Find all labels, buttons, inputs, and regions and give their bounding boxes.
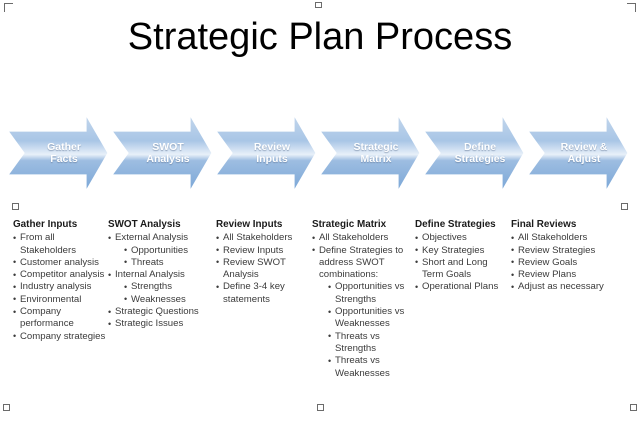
list-item-text: From all Stakeholders xyxy=(20,232,76,255)
selection-handle-bottom-right[interactable] xyxy=(630,404,637,411)
list-item: External AnalysisOpportunitiesThreats xyxy=(108,232,212,269)
detail-column-3: Review InputsAll StakeholdersReview Inpu… xyxy=(216,219,310,306)
list-item-text: Customer analysis xyxy=(20,257,99,268)
detail-column-heading: SWOT Analysis xyxy=(108,219,212,231)
selection-handle-top-center[interactable] xyxy=(315,2,322,8)
process-arrow-5[interactable]: DefineStrategies xyxy=(424,113,540,193)
detail-column-2: SWOT AnalysisExternal AnalysisOpportunit… xyxy=(108,219,212,331)
list-item: Short and Long Term Goals xyxy=(415,257,511,282)
list-item: Strategic Issues xyxy=(108,318,212,330)
selection-handle-bottom-left[interactable] xyxy=(3,404,10,411)
detail-column-5: Define StrategiesObjectivesKey Strategie… xyxy=(415,219,511,294)
list-item-text: Strategic Issues xyxy=(115,318,183,329)
list-item: Review Goals xyxy=(511,257,636,269)
list-item: All Stakeholders xyxy=(312,232,412,244)
list-item: All Stakeholders xyxy=(511,232,636,244)
list-item-text: All Stakeholders xyxy=(518,232,587,243)
list-item-text: Competitor analysis xyxy=(20,269,104,280)
detail-column-sublist: Opportunities vs StrengthsOpportunities … xyxy=(319,281,412,379)
list-item: Adjust as necessary xyxy=(511,281,636,293)
list-item: Industry analysis xyxy=(13,281,107,293)
list-item-text: Review Plans xyxy=(518,269,576,280)
selection-handle-bottom-center[interactable] xyxy=(317,404,324,411)
sub-list-item: Opportunities xyxy=(124,245,212,257)
list-item: Customer analysis xyxy=(13,257,107,269)
detail-column-6: Final ReviewsAll StakeholdersReview Stra… xyxy=(511,219,636,294)
list-item-text: Short and Long Term Goals xyxy=(422,257,488,280)
list-item: Define 3-4 key statements xyxy=(216,281,310,306)
list-item-text: Industry analysis xyxy=(20,281,91,292)
process-arrow-band: GatherFactsSWOTAnalysisReviewInputsStrat… xyxy=(0,113,640,195)
list-item: Review Strategies xyxy=(511,245,636,257)
list-item: All Stakeholders xyxy=(216,232,310,244)
list-item-text: Review SWOT Analysis xyxy=(223,257,286,280)
list-item: Operational Plans xyxy=(415,281,511,293)
detail-column-list: External AnalysisOpportunitiesThreatsInt… xyxy=(108,232,212,330)
list-item-text: Review Inputs xyxy=(223,245,283,256)
selection-handle-middle-left[interactable] xyxy=(12,203,19,210)
list-item-text: External Analysis xyxy=(115,232,188,243)
list-item: Company strategies xyxy=(13,331,107,343)
detail-column-1: Gather InputsFrom all StakeholdersCustom… xyxy=(13,219,107,343)
detail-column-list: ObjectivesKey StrategiesShort and Long T… xyxy=(415,232,511,293)
list-item: Define Strategies to address SWOT combin… xyxy=(312,245,412,380)
list-item-text: All Stakeholders xyxy=(319,232,388,243)
list-item: From all Stakeholders xyxy=(13,232,107,257)
sub-list-item: Threats vs Weaknesses xyxy=(328,355,412,380)
slide-canvas: Strategic Plan Process GatherFactsSWOTAn… xyxy=(0,0,640,426)
detail-column-sublist: StrengthsWeaknesses xyxy=(115,281,212,306)
process-arrow-1[interactable]: GatherFacts xyxy=(8,113,124,193)
sub-list-item: Threats xyxy=(124,257,212,269)
detail-column-heading: Final Reviews xyxy=(511,219,636,231)
detail-column-list: All StakeholdersReview StrategiesReview … xyxy=(511,232,636,293)
list-item: Internal AnalysisStrengthsWeaknesses xyxy=(108,269,212,306)
selection-handle-middle-right[interactable] xyxy=(621,203,628,210)
list-item: Company performance xyxy=(13,306,107,331)
sub-list-item: Opportunities vs Strengths xyxy=(328,281,412,306)
list-item-text: Objectives xyxy=(422,232,467,243)
process-arrow-4[interactable]: StrategicMatrix xyxy=(320,113,436,193)
sub-list-item: Opportunities vs Weaknesses xyxy=(328,306,412,331)
list-item-text: All Stakeholders xyxy=(223,232,292,243)
process-arrow-6[interactable]: Review &Adjust xyxy=(528,113,640,193)
selection-handle-top-left[interactable] xyxy=(4,3,13,12)
list-item-text: Adjust as necessary xyxy=(518,281,604,292)
detail-column-4: Strategic MatrixAll StakeholdersDefine S… xyxy=(312,219,412,380)
list-item-text: Review Goals xyxy=(518,257,577,268)
list-item: Strategic Questions xyxy=(108,306,212,318)
list-item-text: Strategic Questions xyxy=(115,306,199,317)
detail-column-heading: Gather Inputs xyxy=(13,219,107,231)
list-item: Objectives xyxy=(415,232,511,244)
detail-column-sublist: OpportunitiesThreats xyxy=(115,245,212,270)
list-item-text: Company strategies xyxy=(20,331,105,342)
detail-column-heading: Review Inputs xyxy=(216,219,310,231)
process-arrow-2[interactable]: SWOTAnalysis xyxy=(112,113,228,193)
detail-columns: Gather InputsFrom all StakeholdersCustom… xyxy=(0,219,640,399)
list-item-text: Define 3-4 key statements xyxy=(223,281,285,304)
detail-column-heading: Strategic Matrix xyxy=(312,219,412,231)
list-item-text: Company performance xyxy=(20,306,74,329)
detail-column-list: From all StakeholdersCustomer analysisCo… xyxy=(13,232,107,343)
list-item-text: Internal Analysis xyxy=(115,269,185,280)
detail-column-heading: Define Strategies xyxy=(415,219,511,231)
page-title: Strategic Plan Process xyxy=(0,16,640,59)
sub-list-item: Threats vs Strengths xyxy=(328,331,412,356)
list-item: Review Plans xyxy=(511,269,636,281)
list-item: Review SWOT Analysis xyxy=(216,257,310,282)
list-item-text: Review Strategies xyxy=(518,245,595,256)
sub-list-item: Weaknesses xyxy=(124,294,212,306)
process-arrow-3[interactable]: ReviewInputs xyxy=(216,113,332,193)
list-item: Key Strategies xyxy=(415,245,511,257)
detail-column-list: All StakeholdersReview InputsReview SWOT… xyxy=(216,232,310,306)
list-item-text: Define Strategies to address SWOT combin… xyxy=(319,245,403,281)
detail-column-list: All StakeholdersDefine Strategies to add… xyxy=(312,232,412,380)
list-item-text: Operational Plans xyxy=(422,281,498,292)
list-item: Competitor analysis xyxy=(13,269,107,281)
list-item: Review Inputs xyxy=(216,245,310,257)
list-item-text: Key Strategies xyxy=(422,245,484,256)
list-item: Environmental xyxy=(13,294,107,306)
list-item-text: Environmental xyxy=(20,294,81,305)
sub-list-item: Strengths xyxy=(124,281,212,293)
selection-handle-top-right[interactable] xyxy=(627,3,636,12)
